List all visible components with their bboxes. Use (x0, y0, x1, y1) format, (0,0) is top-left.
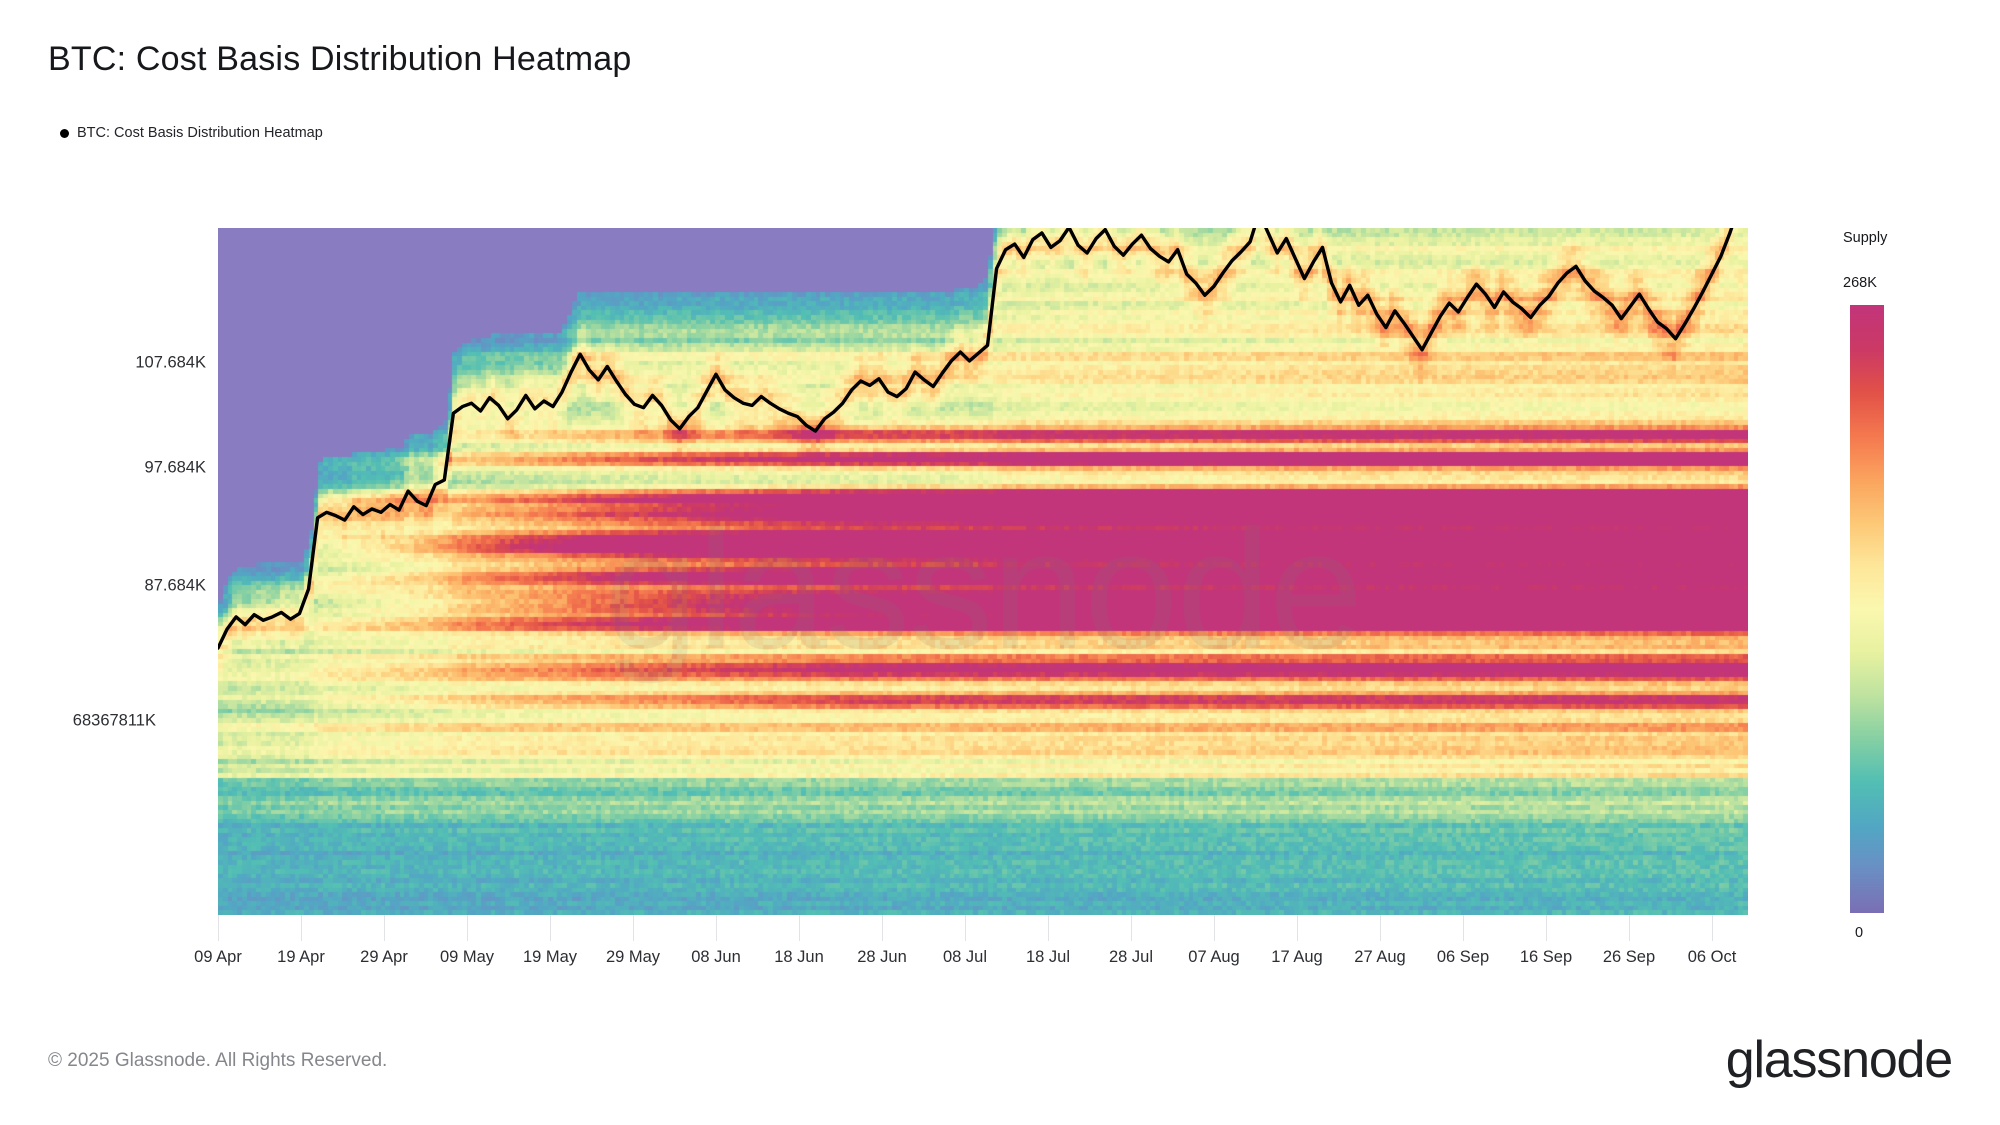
x-axis-label: 09 May (440, 948, 494, 967)
x-axis-label: 08 Jun (691, 948, 741, 967)
x-axis-tick (1131, 915, 1132, 941)
x-axis-tick (218, 915, 219, 941)
colorbar-min-label: 0 (1855, 925, 1863, 941)
legend-series-label: BTC: Cost Basis Distribution Heatmap (77, 125, 323, 141)
x-axis-label: 09 Apr (194, 948, 242, 967)
x-axis-label: 29 Apr (360, 948, 408, 967)
x-axis-label: 19 Apr (277, 948, 325, 967)
copyright-text: © 2025 Glassnode. All Rights Reserved. (48, 1050, 387, 1072)
x-axis-tick (1214, 915, 1215, 941)
price-line-path (218, 228, 1748, 648)
brand-logo: glassnode (1726, 1030, 1952, 1090)
price-line-svg (218, 228, 1748, 915)
x-axis-label: 06 Sep (1437, 948, 1489, 967)
chart-page: BTC: Cost Basis Distribution Heatmap BTC… (0, 0, 2000, 1125)
x-axis-label: 18 Jul (1026, 948, 1070, 967)
x-axis-tick (1380, 915, 1381, 941)
page-title: BTC: Cost Basis Distribution Heatmap (48, 40, 632, 79)
x-axis-label: 08 Jul (943, 948, 987, 967)
x-axis-tick (301, 915, 302, 941)
legend-marker-icon (60, 129, 69, 138)
x-axis-label: 28 Jul (1109, 948, 1153, 967)
colorbar-gradient[interactable] (1850, 305, 1884, 913)
x-axis-tick (1629, 915, 1630, 941)
x-axis-label: 26 Sep (1603, 948, 1655, 967)
x-axis-label: 06 Oct (1688, 948, 1737, 967)
x-axis-tick (1463, 915, 1464, 941)
x-axis-tick (550, 915, 551, 941)
x-axis-label: 18 Jun (774, 948, 824, 967)
x-axis-tick (716, 915, 717, 941)
x-axis-tick (882, 915, 883, 941)
x-axis-tick (384, 915, 385, 941)
colorbar-title: Supply (1843, 230, 1887, 246)
chart-legend[interactable]: BTC: Cost Basis Distribution Heatmap (60, 125, 323, 141)
y-axis-label: 68367811K (73, 712, 156, 731)
x-axis-label: 17 Aug (1271, 948, 1322, 967)
x-axis-label: 28 Jun (857, 948, 907, 967)
x-axis-tick (799, 915, 800, 941)
x-axis-tick (467, 915, 468, 941)
x-axis-tick (1297, 915, 1298, 941)
x-axis-label: 29 May (606, 948, 660, 967)
x-axis-label: 19 May (523, 948, 577, 967)
colorbar-max-label: 268K (1843, 275, 1877, 291)
y-axis-label: 97.684K (145, 458, 206, 477)
x-axis-label: 07 Aug (1188, 948, 1239, 967)
y-axis-label: 87.684K (145, 576, 206, 595)
x-axis-tick (965, 915, 966, 941)
y-axis-label: 107.684K (135, 354, 206, 373)
heatmap-plot-area[interactable]: glassnode (218, 228, 1748, 915)
x-axis-tick (1712, 915, 1713, 941)
x-axis-label: 16 Sep (1520, 948, 1572, 967)
x-axis-tick (1546, 915, 1547, 941)
x-axis-tick (633, 915, 634, 941)
x-axis-label: 27 Aug (1354, 948, 1405, 967)
x-axis-tick (1048, 915, 1049, 941)
